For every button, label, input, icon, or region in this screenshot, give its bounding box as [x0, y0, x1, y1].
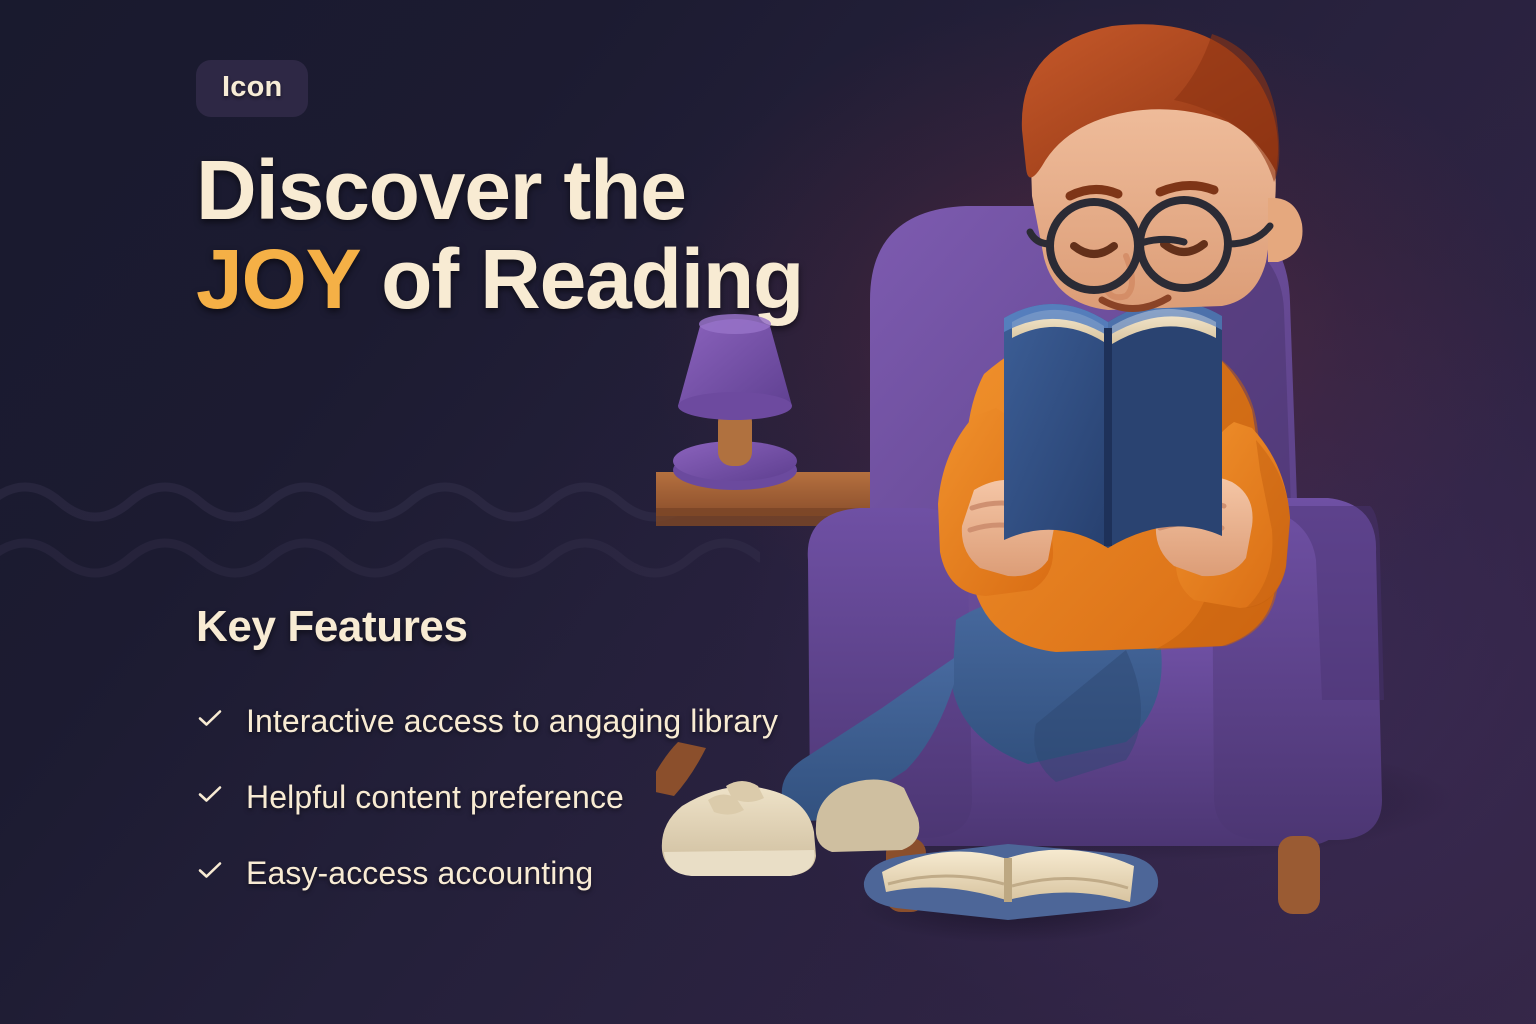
open-book-held — [1004, 301, 1222, 548]
key-features-heading: Key Features — [196, 602, 468, 652]
headline-line-1: Discover the — [196, 143, 686, 237]
icon-badge-label: Icon — [222, 71, 282, 103]
open-book-on-floor — [864, 844, 1158, 920]
list-item-label: Helpful content preference — [246, 776, 624, 818]
check-icon — [196, 852, 224, 888]
check-icon — [196, 700, 224, 736]
wave-pattern-decoration — [0, 462, 760, 592]
headline-highlight-joy: JOY — [196, 232, 359, 326]
icon-badge[interactable]: Icon — [196, 60, 308, 117]
person-reading-in-armchair-illustration — [656, 0, 1536, 1024]
list-item-label: Easy-access accounting — [246, 852, 593, 894]
reader-head — [1022, 24, 1303, 310]
table-lamp — [673, 314, 797, 490]
check-icon — [196, 776, 224, 812]
promo-banner: Icon Discover the JOY of Reading Key Fea… — [0, 0, 1536, 1024]
ear — [1268, 198, 1303, 262]
